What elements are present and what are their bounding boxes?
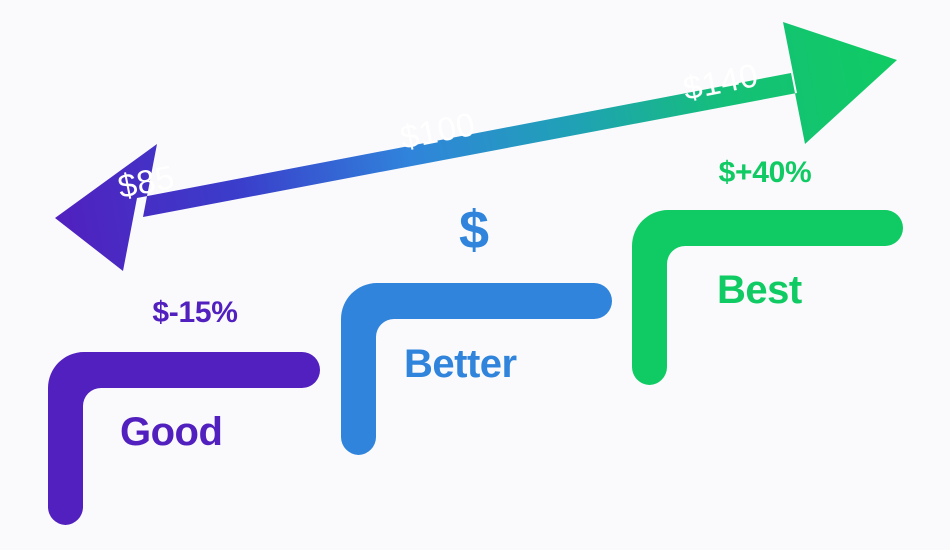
infographic-canvas: $85 $100 $140 $-15% $ $+40% Good Better … <box>0 0 950 550</box>
step-bracket-better[interactable] <box>341 283 612 455</box>
step-brackets-graphic <box>0 0 950 550</box>
step-bracket-best[interactable] <box>632 210 903 385</box>
step-bracket-good[interactable] <box>48 352 320 525</box>
